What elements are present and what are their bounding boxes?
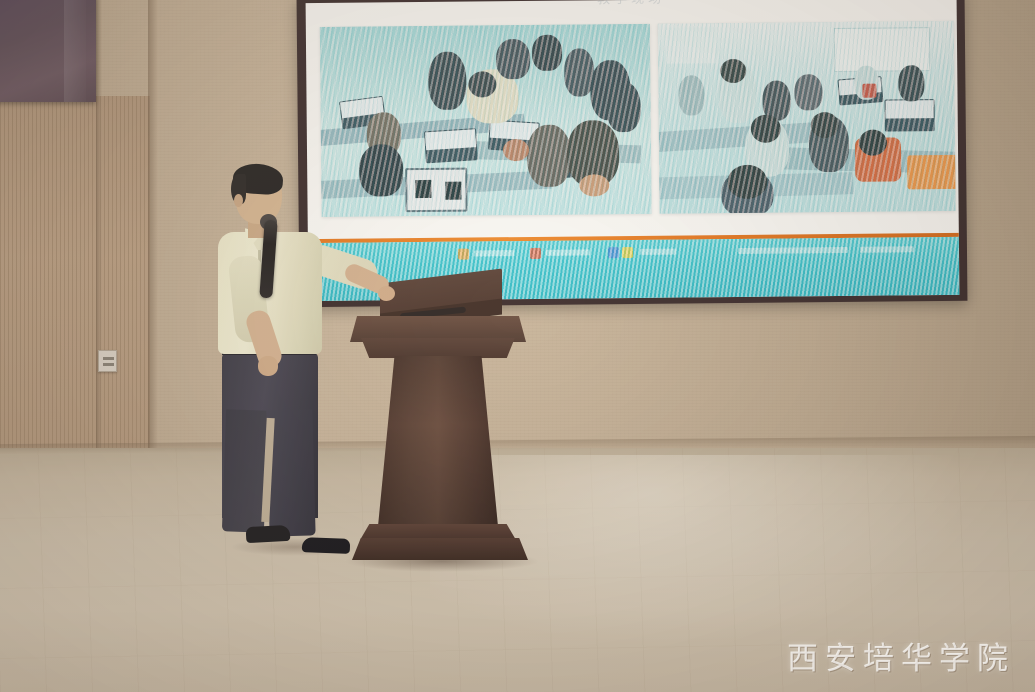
presenter-left-hand xyxy=(258,356,278,376)
dark-wall-panel xyxy=(0,0,96,102)
presenter-left-shoe xyxy=(246,525,291,543)
watermark: 西安培华学院 xyxy=(787,633,1015,678)
presenter-right-shoe xyxy=(302,537,350,554)
projected-slide: 教学现场 xyxy=(306,0,960,301)
slide-title: 教学现场 xyxy=(306,0,957,10)
wood-slat-panel-shading xyxy=(0,96,150,456)
outlet-slot-icon xyxy=(103,363,114,366)
lectern-base-upper xyxy=(360,524,516,540)
outlet-slot-icon xyxy=(103,357,114,360)
projection-screen: 教学现场 xyxy=(297,0,968,307)
presenter-ear xyxy=(234,194,243,207)
lecture-hall-photo: 教学现场 xyxy=(0,0,1035,692)
wall-outlet-icon xyxy=(98,350,117,372)
panel-sheen xyxy=(64,0,86,102)
wall-column-edge-inner xyxy=(96,0,102,470)
lectern-column-shading xyxy=(374,356,502,528)
presenter xyxy=(206,160,382,572)
presenter-right-hand xyxy=(378,286,395,301)
lectern-capital-lower xyxy=(358,338,518,358)
wall-column-edge xyxy=(148,0,158,470)
slide-photo-right xyxy=(658,21,956,214)
